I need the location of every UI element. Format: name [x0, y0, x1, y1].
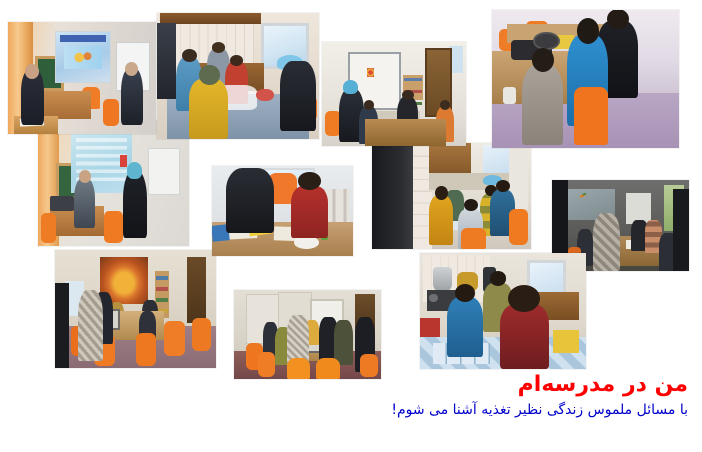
photo-7-scene — [372, 143, 531, 249]
photo-2-scene — [157, 13, 319, 139]
collage-photo-6[interactable] — [212, 166, 353, 256]
collage-photo-9[interactable] — [55, 250, 216, 368]
photo-10-scene — [234, 290, 381, 379]
caption-block: من در مدرسه‌ام با مسائل ملموس زندگی نظیر… — [18, 372, 688, 419]
photo-collage — [0, 0, 702, 400]
photo-4-scene — [492, 10, 679, 148]
slide-canvas: من در مدرسه‌ام با مسائل ملموس زندگی نظیر… — [0, 0, 702, 452]
photo-3-scene — [322, 42, 466, 146]
photo-11-scene — [420, 253, 586, 369]
collage-photo-3[interactable] — [322, 42, 466, 146]
photo-9-scene — [55, 250, 216, 368]
collage-photo-11[interactable] — [420, 253, 586, 369]
collage-photo-10[interactable] — [234, 290, 381, 379]
collage-photo-1[interactable] — [8, 22, 156, 134]
photo-1-scene — [8, 22, 156, 134]
caption-subtitle: با مسائل ملموس زندگی نظیر تغذیه آشنا می … — [18, 402, 688, 419]
photo-6-scene — [212, 166, 353, 256]
collage-photo-7[interactable] — [372, 143, 531, 249]
collage-photo-4[interactable] — [492, 10, 679, 148]
collage-photo-2[interactable] — [157, 13, 319, 139]
